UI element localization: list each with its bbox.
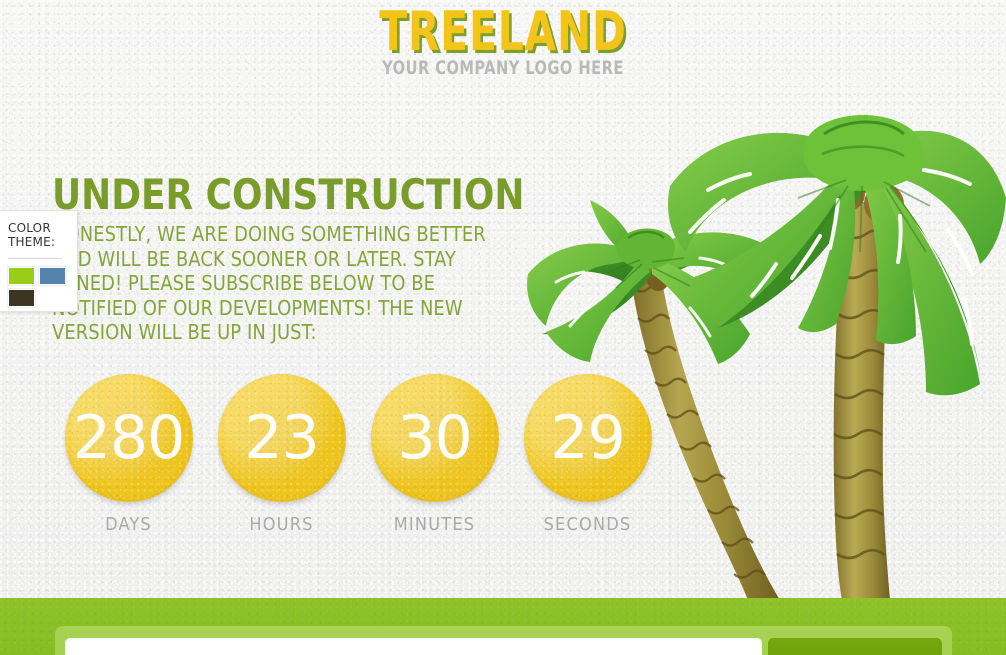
color-theme-swatch-list bbox=[8, 267, 70, 307]
countdown-value-days: 280 bbox=[73, 408, 185, 468]
countdown-label-seconds: SECONDS bbox=[511, 514, 664, 535]
subscribe-button[interactable] bbox=[768, 638, 942, 655]
countdown-timer: 280 DAYS 23 HOURS 30 MINUTES 29 SECONDS bbox=[52, 374, 672, 535]
color-theme-divider bbox=[8, 258, 62, 259]
page-root: TREELAND YOUR COMPANY LOGO HERE bbox=[0, 0, 1006, 655]
logo-title: TREELAND bbox=[80, 4, 925, 60]
countdown-unit-days: 280 DAYS bbox=[52, 374, 205, 535]
color-swatch-blue[interactable] bbox=[39, 267, 66, 285]
countdown-unit-hours: 23 HOURS bbox=[205, 374, 358, 535]
logo-subtitle: YOUR COMPANY LOGO HERE bbox=[70, 57, 935, 79]
countdown-circle-hours: 23 bbox=[218, 374, 346, 502]
countdown-circle-seconds: 29 bbox=[524, 374, 652, 502]
subscribe-panel bbox=[55, 626, 952, 655]
countdown-value-minutes: 30 bbox=[397, 408, 471, 468]
countdown-label-hours: HOURS bbox=[205, 514, 358, 535]
color-theme-panel[interactable]: COLOR THEME: bbox=[0, 210, 78, 312]
countdown-label-minutes: MINUTES bbox=[358, 514, 511, 535]
countdown-circle-days: 280 bbox=[65, 374, 193, 502]
main-content: UNDER CONSTRUCTION HONESTLY, WE ARE DOIN… bbox=[52, 172, 552, 345]
countdown-label-days: DAYS bbox=[52, 514, 205, 535]
intro-paragraph: HONESTLY, WE ARE DOING SOMETHING BETTER … bbox=[52, 222, 520, 345]
countdown-circle-minutes: 30 bbox=[371, 374, 499, 502]
color-swatch-brown[interactable] bbox=[8, 289, 35, 307]
site-header: TREELAND YOUR COMPANY LOGO HERE bbox=[0, 0, 1006, 79]
page-title: UNDER CONSTRUCTION bbox=[52, 172, 527, 218]
email-input[interactable] bbox=[65, 638, 762, 655]
color-theme-title: COLOR THEME: bbox=[8, 221, 77, 249]
color-swatch-green[interactable] bbox=[8, 267, 35, 285]
subscribe-form bbox=[55, 638, 952, 655]
countdown-unit-minutes: 30 MINUTES bbox=[358, 374, 511, 535]
subscribe-bar bbox=[0, 598, 1006, 655]
countdown-unit-seconds: 29 SECONDS bbox=[511, 374, 664, 535]
countdown-value-hours: 23 bbox=[244, 408, 318, 468]
countdown-value-seconds: 29 bbox=[550, 408, 624, 468]
